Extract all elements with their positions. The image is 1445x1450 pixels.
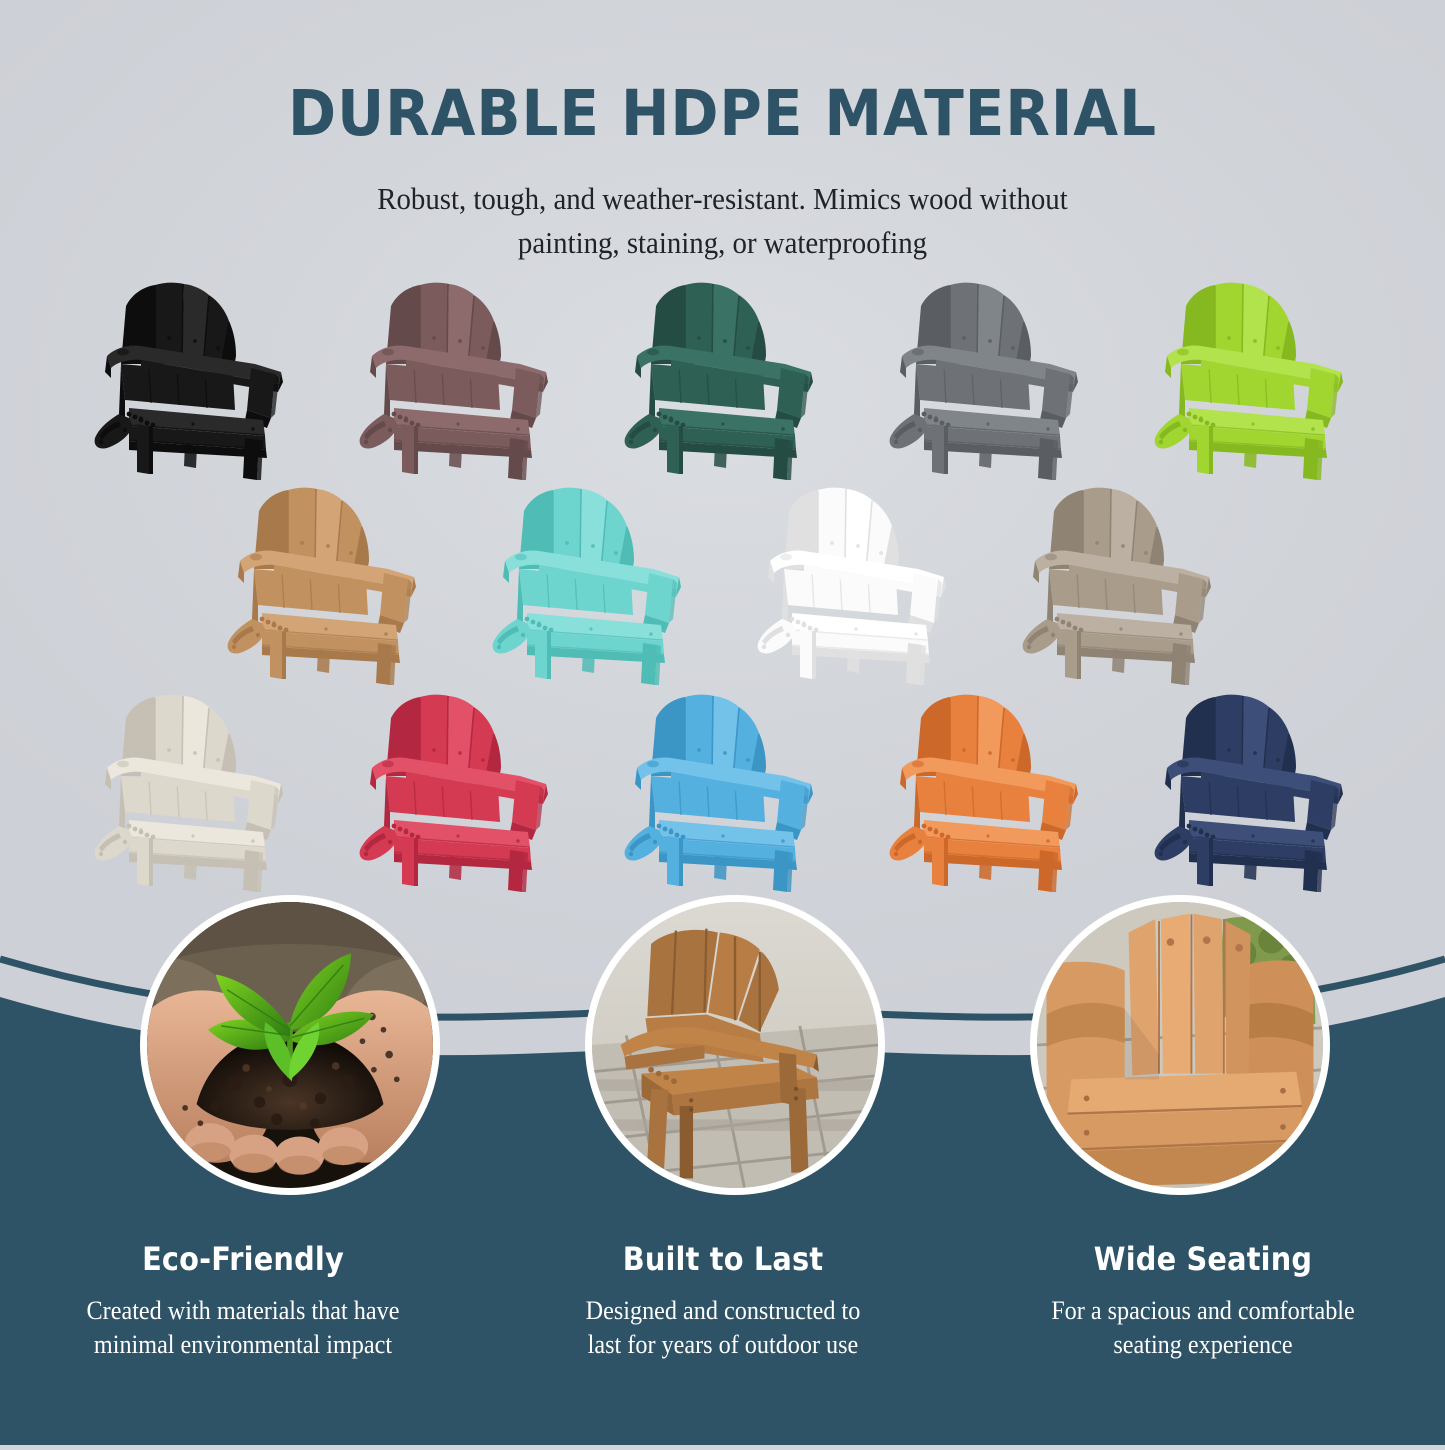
chair-graphic <box>880 268 1095 483</box>
chair-graphic <box>748 473 963 688</box>
header: DURABLE HDPE MATERIAL Robust, tough, and… <box>0 0 1445 265</box>
chair-swatch-teak[interactable] <box>218 473 433 688</box>
chair-graphic <box>1013 473 1228 688</box>
chair-swatch-white[interactable] <box>748 473 963 688</box>
chair-swatch-orange[interactable] <box>880 680 1095 895</box>
chair-swatch-red[interactable] <box>350 680 565 895</box>
feature-eco-friendly: Eco-Friendly Created with materials that… <box>23 1240 463 1363</box>
feature-desc-line-2: last for years of outdoor use <box>518 1328 927 1362</box>
chair-swatch-gray[interactable] <box>880 268 1095 483</box>
teak-chair-on-patio-photo <box>585 895 885 1195</box>
chair-swatch-lime-green[interactable] <box>1145 268 1360 483</box>
feature-title: Eco-Friendly <box>45 1240 441 1278</box>
chair-graphic <box>218 473 433 688</box>
chair-swatch-dark-green[interactable] <box>615 268 830 483</box>
chair-graphic <box>350 680 565 895</box>
wide-seat-closeup-photo <box>1030 895 1330 1195</box>
chair-graphic <box>615 680 830 895</box>
chair-graphic <box>350 268 565 483</box>
feature-description: For a spacious and comfortable seating e… <box>998 1294 1407 1363</box>
chair-graphic <box>615 268 830 483</box>
chair-swatch-blue[interactable] <box>615 680 830 895</box>
chair-swatch-driftwood[interactable] <box>1013 473 1228 688</box>
feature-list: Eco-Friendly Created with materials that… <box>0 1240 1445 1363</box>
feature-title: Built to Last <box>525 1240 921 1278</box>
chair-graphic <box>1145 680 1360 895</box>
chair-swatch-navy-blue[interactable] <box>1145 680 1360 895</box>
feature-desc-line-1: For a spacious and comfortable <box>998 1294 1407 1328</box>
feature-photos <box>0 895 1445 1225</box>
chair-graphic <box>483 473 698 688</box>
hands-holding-seedling-photo <box>140 895 440 1195</box>
chair-graphic <box>85 680 300 895</box>
chair-graphic <box>880 680 1095 895</box>
chair-swatch-turquoise[interactable] <box>483 473 698 688</box>
feature-description: Created with materials that have minimal… <box>38 1294 447 1363</box>
chair-swatch-black[interactable] <box>85 268 300 483</box>
chair-row-2 <box>0 473 1445 688</box>
chair-graphic <box>1145 268 1360 483</box>
subtitle-line-2: painting, staining, or waterproofing <box>51 221 1395 265</box>
chair-color-grid <box>0 268 1445 908</box>
chair-swatch-brown[interactable] <box>350 268 565 483</box>
feature-built-to-last: Built to Last Designed and constructed t… <box>503 1240 943 1363</box>
feature-description: Designed and constructed to last for yea… <box>518 1294 927 1363</box>
chair-row-3 <box>0 680 1445 895</box>
feature-desc-line-1: Created with materials that have <box>38 1294 447 1328</box>
feature-desc-line-2: seating experience <box>998 1328 1407 1362</box>
page-title: DURABLE HDPE MATERIAL <box>58 82 1387 145</box>
subtitle-line-1: Robust, tough, and weather-resistant. Mi… <box>51 177 1395 221</box>
chair-row-1 <box>0 268 1445 483</box>
infographic-stage: DURABLE HDPE MATERIAL Robust, tough, and… <box>0 0 1445 1445</box>
feature-title: Wide Seating <box>1005 1240 1401 1278</box>
chair-graphic <box>85 268 300 483</box>
page-subtitle: Robust, tough, and weather-resistant. Mi… <box>51 177 1395 265</box>
chair-swatch-ivory[interactable] <box>85 680 300 895</box>
feature-wide-seating: Wide Seating For a spacious and comforta… <box>983 1240 1423 1363</box>
feature-desc-line-2: minimal environmental impact <box>38 1328 447 1362</box>
feature-desc-line-1: Designed and constructed to <box>518 1294 927 1328</box>
